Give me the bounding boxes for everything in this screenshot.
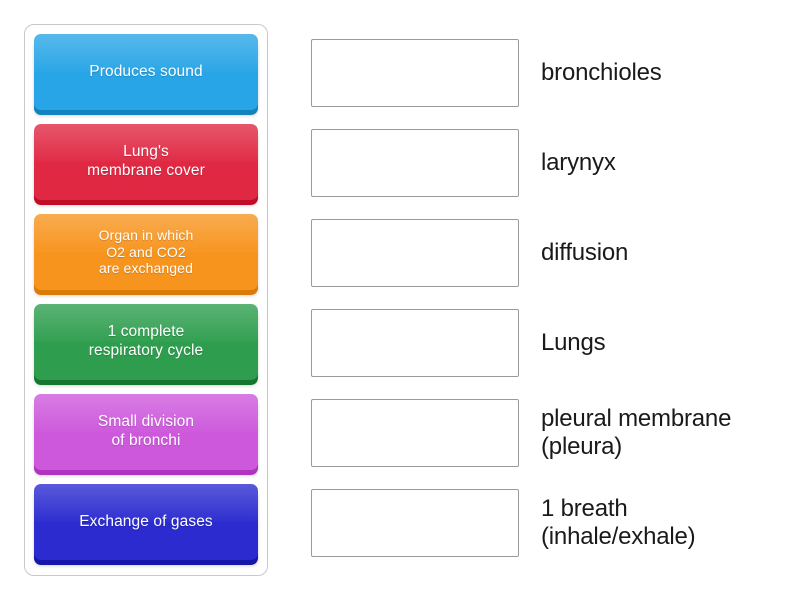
answer-bronchioles-label: bronchioles (541, 59, 662, 87)
activity-stage: Produces soundLung's membrane coverOrgan… (0, 0, 800, 600)
tile-produces-sound-label: Produces sound (89, 63, 202, 82)
drop-box-one-breath[interactable] (311, 489, 519, 557)
drop-box-lungs[interactable] (311, 309, 519, 377)
tile-produces-sound[interactable]: Produces sound (34, 34, 258, 110)
answer-row: diffusion (311, 218, 781, 288)
drop-box-diffusion[interactable] (311, 219, 519, 287)
drop-box-pleural-membrane[interactable] (311, 399, 519, 467)
answer-row: bronchioles (311, 38, 781, 108)
tile-small-division-bronchi[interactable]: Small division of bronchi (34, 394, 258, 470)
tile-exchange-of-gases-label: Exchange of gases (79, 513, 213, 532)
tile-one-respiratory-cycle-label: 1 complete respiratory cycle (89, 323, 204, 360)
tile-small-division-bronchi-label: Small division of bronchi (98, 413, 194, 450)
drop-box-bronchioles[interactable] (311, 39, 519, 107)
tile-lungs-membrane-cover-label: Lung's membrane cover (87, 143, 205, 180)
answer-pleural-membrane-label: pleural membrane (pleura) (541, 405, 731, 462)
answer-one-breath-label: 1 breath (inhale/exhale) (541, 495, 695, 552)
tile-organ-gas-exchange-label: Organ in which O2 and CO2 are exchanged (99, 227, 194, 277)
answer-diffusion-label: diffusion (541, 239, 628, 267)
draggable-tiles-panel: Produces soundLung's membrane coverOrgan… (24, 24, 268, 576)
answer-larynyx-label: larynyx (541, 149, 616, 177)
tile-lungs-membrane-cover[interactable]: Lung's membrane cover (34, 124, 258, 200)
answer-lungs-label: Lungs (541, 329, 605, 357)
drop-box-larynyx[interactable] (311, 129, 519, 197)
tile-one-respiratory-cycle[interactable]: 1 complete respiratory cycle (34, 304, 258, 380)
answer-row: larynyx (311, 128, 781, 198)
answer-row: pleural membrane (pleura) (311, 398, 781, 468)
answer-row: 1 breath (inhale/exhale) (311, 488, 781, 558)
tile-organ-gas-exchange[interactable]: Organ in which O2 and CO2 are exchanged (34, 214, 258, 290)
answer-row: Lungs (311, 308, 781, 378)
tile-exchange-of-gases[interactable]: Exchange of gases (34, 484, 258, 560)
